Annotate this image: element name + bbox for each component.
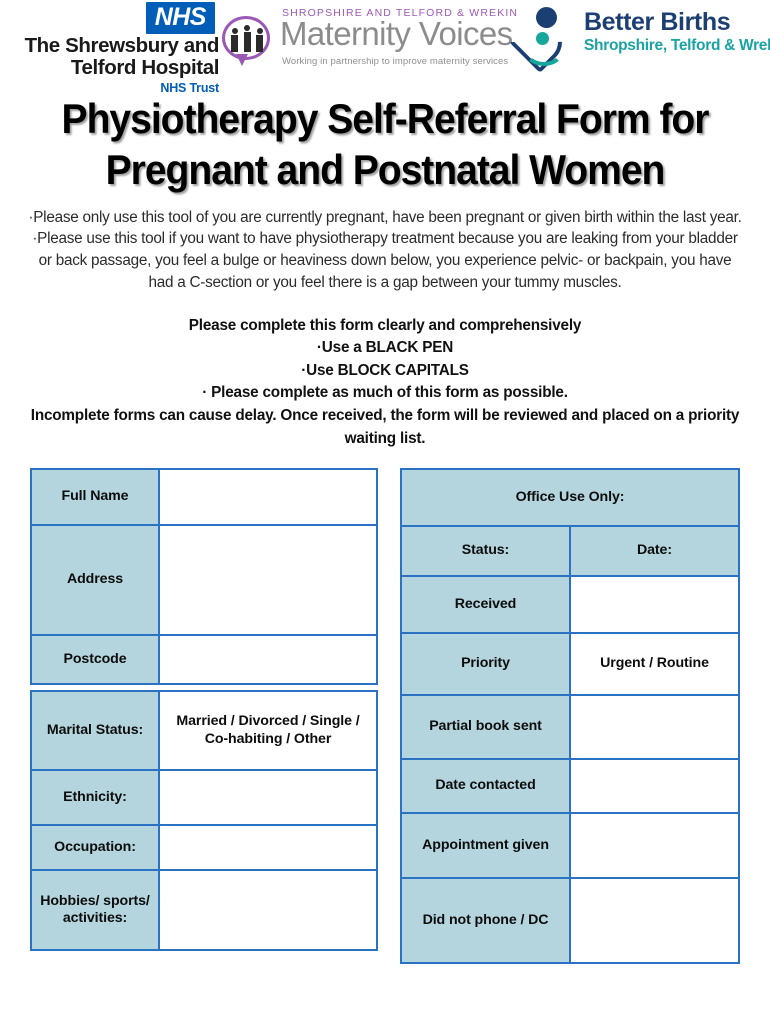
additional-details-table: Marital Status: Married / Divorced / Sin… xyxy=(30,690,378,951)
personal-details-table: Full Name Address Postcode xyxy=(30,468,378,685)
label-did-not-phone-dc: Did not phone / DC xyxy=(401,878,570,963)
page-title: Physiotherapy Self-Referral Form for Pre… xyxy=(47,92,722,196)
label-postcode: Postcode xyxy=(31,635,159,684)
trust-name-line1: The Shrewsbury and xyxy=(4,35,219,56)
intro-bullet-1: ·Please only use this tool of you are cu… xyxy=(28,207,742,229)
input-address[interactable] xyxy=(159,525,377,635)
input-did-not-phone-dc-date[interactable] xyxy=(570,878,739,963)
instructions-block: Please complete this form clearly and co… xyxy=(20,315,750,451)
label-hobbies: Hobbies/ sports/ activities: xyxy=(31,870,159,950)
instruction-line-2: ·Use a BLACK PEN xyxy=(20,337,750,360)
input-postcode[interactable] xyxy=(159,635,377,684)
better-births-logo: Better Births Shropshire, Telford & Wrek… xyxy=(510,4,768,78)
table-row: Office Use Only: xyxy=(401,469,739,526)
column-header-date: Date: xyxy=(570,526,739,576)
input-appointment-given-date[interactable] xyxy=(570,813,739,878)
input-received-date[interactable] xyxy=(570,576,739,633)
label-date-contacted: Date contacted xyxy=(401,759,570,813)
label-received: Received xyxy=(401,576,570,633)
instruction-line-1: Please complete this form clearly and co… xyxy=(20,315,750,338)
table-row: Ethnicity: xyxy=(31,770,377,825)
mother-and-baby-icon xyxy=(514,6,576,70)
table-row: Partial book sent xyxy=(401,695,739,759)
speech-bubble-people-icon xyxy=(222,16,276,68)
label-ethnicity: Ethnicity: xyxy=(31,770,159,825)
page-title-line1: Physiotherapy Self-Referral Form for xyxy=(47,94,722,145)
input-priority-date[interactable]: Urgent / Routine xyxy=(570,633,739,695)
input-ethnicity[interactable] xyxy=(159,770,377,825)
table-row: Received xyxy=(401,576,739,633)
nhs-trust-logo: NHS The Shrewsbury and Telford Hospital … xyxy=(4,2,219,92)
label-occupation: Occupation: xyxy=(31,825,159,870)
office-use-table: Office Use Only: Status: Date: Received … xyxy=(400,468,740,964)
better-births-subtitle: Shropshire, Telford & Wrekin xyxy=(584,37,770,55)
better-births-title: Better Births xyxy=(584,10,730,35)
table-row: Full Name xyxy=(31,469,377,525)
label-priority: Priority xyxy=(401,633,570,695)
instruction-line-3: ·Use BLOCK CAPITALS xyxy=(20,360,750,383)
nhs-logo-badge: NHS xyxy=(146,2,215,34)
input-hobbies[interactable] xyxy=(159,870,377,950)
logo-bar: NHS The Shrewsbury and Telford Hospital … xyxy=(0,0,770,92)
label-marital-status: Marital Status: xyxy=(31,691,159,770)
office-use-heading: Office Use Only: xyxy=(401,469,739,526)
table-row: Address xyxy=(31,525,377,635)
maternity-voices-strapline: Working in partnership to improve matern… xyxy=(282,56,508,67)
intro-bullet-2: ·Please use this tool if you want to hav… xyxy=(28,228,742,293)
table-row: Appointment given xyxy=(401,813,739,878)
input-marital-status[interactable]: Married / Divorced / Single / Co-habitin… xyxy=(159,691,377,770)
table-row: Did not phone / DC xyxy=(401,878,739,963)
table-row: Status: Date: xyxy=(401,526,739,576)
table-row: Marital Status: Married / Divorced / Sin… xyxy=(31,691,377,770)
table-row: Occupation: xyxy=(31,825,377,870)
input-full-name[interactable] xyxy=(159,469,377,525)
label-address: Address xyxy=(31,525,159,635)
label-appointment-given: Appointment given xyxy=(401,813,570,878)
intro-text: ·Please only use this tool of you are cu… xyxy=(28,207,742,294)
label-partial-book-sent: Partial book sent xyxy=(401,695,570,759)
table-row: Date contacted xyxy=(401,759,739,813)
table-row: Priority Urgent / Routine xyxy=(401,633,739,695)
maternity-voices-logo: SHROPSHIRE AND TELFORD & WREKIN Maternit… xyxy=(222,6,504,82)
table-row: Hobbies/ sports/ activities: xyxy=(31,870,377,950)
page-title-line2: Pregnant and Postnatal Women xyxy=(47,145,722,196)
label-full-name: Full Name xyxy=(31,469,159,525)
input-occupation[interactable] xyxy=(159,825,377,870)
trust-name-line2: Telford Hospital xyxy=(4,57,219,78)
instruction-line-5: Incomplete forms can cause delay. Once r… xyxy=(20,405,750,450)
column-header-status: Status: xyxy=(401,526,570,576)
instruction-line-4: · Please complete as much of this form a… xyxy=(20,382,750,405)
maternity-voices-wordmark: Maternity Voices xyxy=(280,17,513,50)
table-row: Postcode xyxy=(31,635,377,684)
input-partial-book-sent-date[interactable] xyxy=(570,695,739,759)
input-date-contacted-date[interactable] xyxy=(570,759,739,813)
